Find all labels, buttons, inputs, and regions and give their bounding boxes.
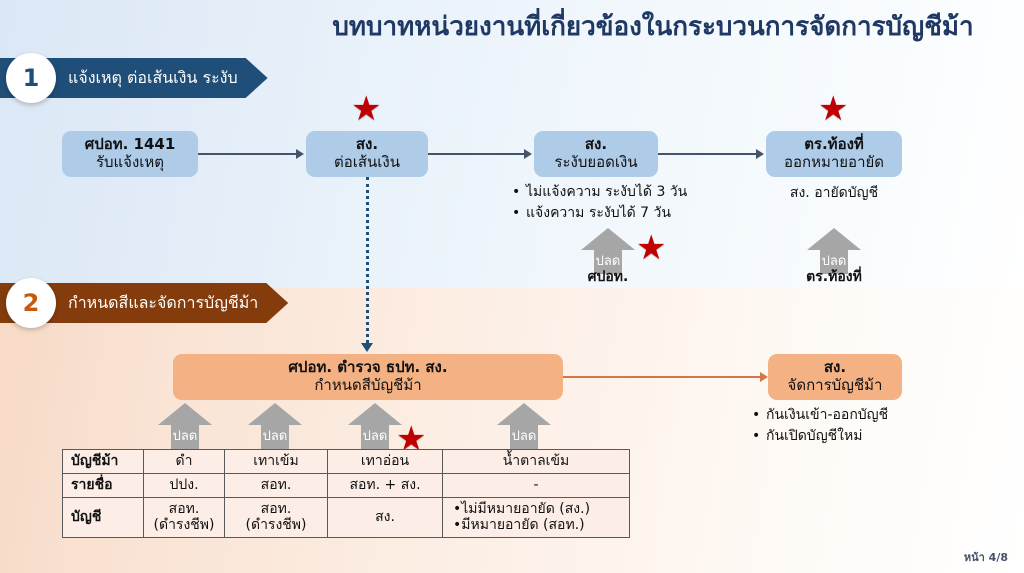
connector-trace-to-color-dotted: [366, 177, 369, 343]
table-cell: เทาอ่อน: [328, 450, 443, 474]
section-banner-1-number: 1: [6, 53, 56, 103]
connector-1441-to-trace-arrowhead: [296, 149, 304, 159]
section-banner-1: แจ้งเหตุ ต่อเส้นเงิน ระงับ 1: [0, 58, 312, 98]
flow-box-manage-account-line1: สง.: [824, 359, 846, 377]
flow-box-assign-color: ศปอท. ตำรวจ ธปท. สง. กำหนดสีบัญชีม้า: [173, 354, 563, 400]
table-cell-line: สอท.: [231, 501, 321, 518]
table-cell: สอท. + สง.: [328, 473, 443, 497]
release-arrow-local-police-label: ปลด: [807, 250, 861, 271]
table-cell-line: (ดำรงชีพ): [231, 517, 321, 534]
table-row: รายชื่อ ปปง. สอท. สอท. + สง. -: [63, 473, 630, 497]
connector-suspend-to-police: [658, 153, 756, 155]
connector-trace-to-suspend: [428, 153, 524, 155]
table-cell-line: (ดำรงชีพ): [150, 517, 218, 534]
release-arrow-col-black-label: ปลด: [158, 425, 212, 446]
release-arrow-sapot-label: ปลด: [581, 250, 635, 271]
connector-suspend-to-police-arrowhead: [756, 149, 764, 159]
bullet-dot-icon: •: [752, 426, 766, 447]
note-local-police: สง. อายัดบัญชี: [766, 182, 902, 204]
bullet-text: กันเปิดบัญชีใหม่: [766, 428, 862, 444]
bullet-text: ไม่มีหมายอายัด (สง.): [461, 501, 590, 517]
flow-box-report-1441-line1: ศปอท. 1441: [85, 136, 176, 154]
bullet-text: กันเงินเข้า-ออกบัญชี: [766, 407, 888, 423]
bullet-text: ไม่แจ้งความ ระงับได้ 3 วัน: [526, 184, 687, 200]
bullet-dot-icon: •: [752, 405, 766, 426]
bullet-dot-icon: •: [512, 203, 526, 224]
connector-trace-to-color-arrowhead: [361, 343, 373, 352]
flow-box-money-trace: สง. ต่อเส้นเงิน: [306, 131, 428, 177]
release-arrow-col-darkbrown: ปลด: [497, 403, 551, 449]
up-arrow-icon: [158, 403, 212, 425]
up-arrow-icon: [497, 403, 551, 425]
star-icon-release-sapot: ★: [636, 231, 666, 265]
star-icon-money-trace: ★: [351, 92, 381, 126]
bullet-item: •กันเปิดบัญชีใหม่: [752, 426, 888, 447]
release-arrow-col-darkbrown-label: ปลด: [497, 425, 551, 446]
release-arrow-sapot: ปลด: [581, 228, 635, 274]
flow-box-assign-color-line1: ศปอท. ตำรวจ ธปท. สง.: [288, 359, 447, 377]
flow-box-assign-color-line2: กำหนดสีบัญชีม้า: [314, 377, 421, 395]
connector-color-to-manage: [563, 376, 760, 378]
bullet-item: •ไม่แจ้งความ ระงับได้ 3 วัน: [512, 182, 687, 203]
flow-box-local-police-line2: ออกหมายอายัด: [784, 154, 884, 172]
release-arrow-col-darkgray-label: ปลด: [248, 425, 302, 446]
bullet-item: •แจ้งความ ระงับได้ 7 วัน: [512, 203, 687, 224]
flow-box-suspend-balance-line1: สง.: [585, 136, 607, 154]
bullets-suspend-balance: •ไม่แจ้งความ ระงับได้ 3 วัน •แจ้งความ ระ…: [512, 182, 687, 224]
page-number: หน้า 4/8: [964, 548, 1008, 566]
bullet-text: มีหมายอายัด (สอท.): [461, 517, 584, 533]
up-arrow-icon: [348, 403, 402, 425]
table-cell: สอท.(ดำรงชีพ): [144, 497, 225, 538]
table-rowhead: บัญชีม้า: [63, 450, 144, 474]
flow-box-manage-account-line2: จัดการบัญชีม้า: [788, 377, 883, 395]
table-cell: ดำ: [144, 450, 225, 474]
bullet-item: •มีหมายอายัด (สอท.): [453, 517, 623, 534]
flow-box-suspend-balance-line2: ระงับยอดเงิน: [554, 154, 637, 172]
bullet-dot-icon: •: [512, 182, 526, 203]
release-arrow-col-darkgray: ปลด: [248, 403, 302, 449]
bullet-item: •ไม่มีหมายอายัด (สง.): [453, 501, 623, 518]
table-row: บัญชีม้า ดำ เทาเข้ม เทาอ่อน น้ำตาลเข้ม: [63, 450, 630, 474]
table-cell-line: สอท.: [150, 501, 218, 518]
table-cell-bullets: •ไม่มีหมายอายัด (สง.) •มีหมายอายัด (สอท.…: [443, 497, 630, 538]
flow-box-money-trace-line2: ต่อเส้นเงิน: [334, 154, 400, 172]
section-banner-2-number: 2: [6, 278, 56, 328]
flow-box-report-1441-line2: รับแจ้งเหตุ: [96, 154, 164, 172]
section-banner-2: กำหนดสีและจัดการบัญชีม้า 2: [0, 283, 312, 323]
table-rowhead: รายชื่อ: [63, 473, 144, 497]
connector-1441-to-trace: [198, 153, 296, 155]
release-arrow-col-black: ปลด: [158, 403, 212, 449]
table-rowhead: บัญชี: [63, 497, 144, 538]
table-row: บัญชี สอท.(ดำรงชีพ) สอท.(ดำรงชีพ) สง. •ไ…: [63, 497, 630, 538]
star-icon-local-police: ★: [818, 92, 848, 126]
up-arrow-icon: [248, 403, 302, 425]
flow-box-report-1441: ศปอท. 1441 รับแจ้งเหตุ: [62, 131, 198, 177]
table-cell: -: [443, 473, 630, 497]
release-arrow-col-lightgray-label: ปลด: [348, 425, 402, 446]
release-arrow-local-police: ปลด: [807, 228, 861, 274]
flow-box-local-police: ตร.ท้องที่ ออกหมายอายัด: [766, 131, 902, 177]
up-arrow-icon: [807, 228, 861, 250]
flow-box-money-trace-line1: สง.: [356, 136, 378, 154]
table-cell: เทาเข้ม: [225, 450, 328, 474]
account-color-table: บัญชีม้า ดำ เทาเข้ม เทาอ่อน น้ำตาลเข้ม ร…: [62, 449, 630, 538]
flow-box-suspend-balance: สง. ระงับยอดเงิน: [534, 131, 658, 177]
release-arrow-col-lightgray: ปลด: [348, 403, 402, 449]
flow-box-local-police-line1: ตร.ท้องที่: [804, 136, 864, 154]
table-cell: สอท.(ดำรงชีพ): [225, 497, 328, 538]
bullet-item: •กันเงินเข้า-ออกบัญชี: [752, 405, 888, 426]
connector-trace-to-suspend-arrowhead: [524, 149, 532, 159]
table-cell: สง.: [328, 497, 443, 538]
flow-box-manage-account: สง. จัดการบัญชีม้า: [768, 354, 902, 400]
page-title: บทบาทหน่วยงานที่เกี่ยวข้องในกระบวนการจัด…: [290, 6, 1016, 47]
table-cell: น้ำตาลเข้ม: [443, 450, 630, 474]
connector-color-to-manage-arrowhead: [760, 372, 768, 382]
table-cell: สอท.: [225, 473, 328, 497]
bullets-manage-account: •กันเงินเข้า-ออกบัญชี •กันเปิดบัญชีใหม่: [752, 405, 888, 447]
table-cell: ปปง.: [144, 473, 225, 497]
up-arrow-icon: [581, 228, 635, 250]
bullet-text: แจ้งความ ระงับได้ 7 วัน: [526, 205, 671, 221]
slide-canvas: บทบาทหน่วยงานที่เกี่ยวข้องในกระบวนการจัด…: [0, 0, 1024, 573]
